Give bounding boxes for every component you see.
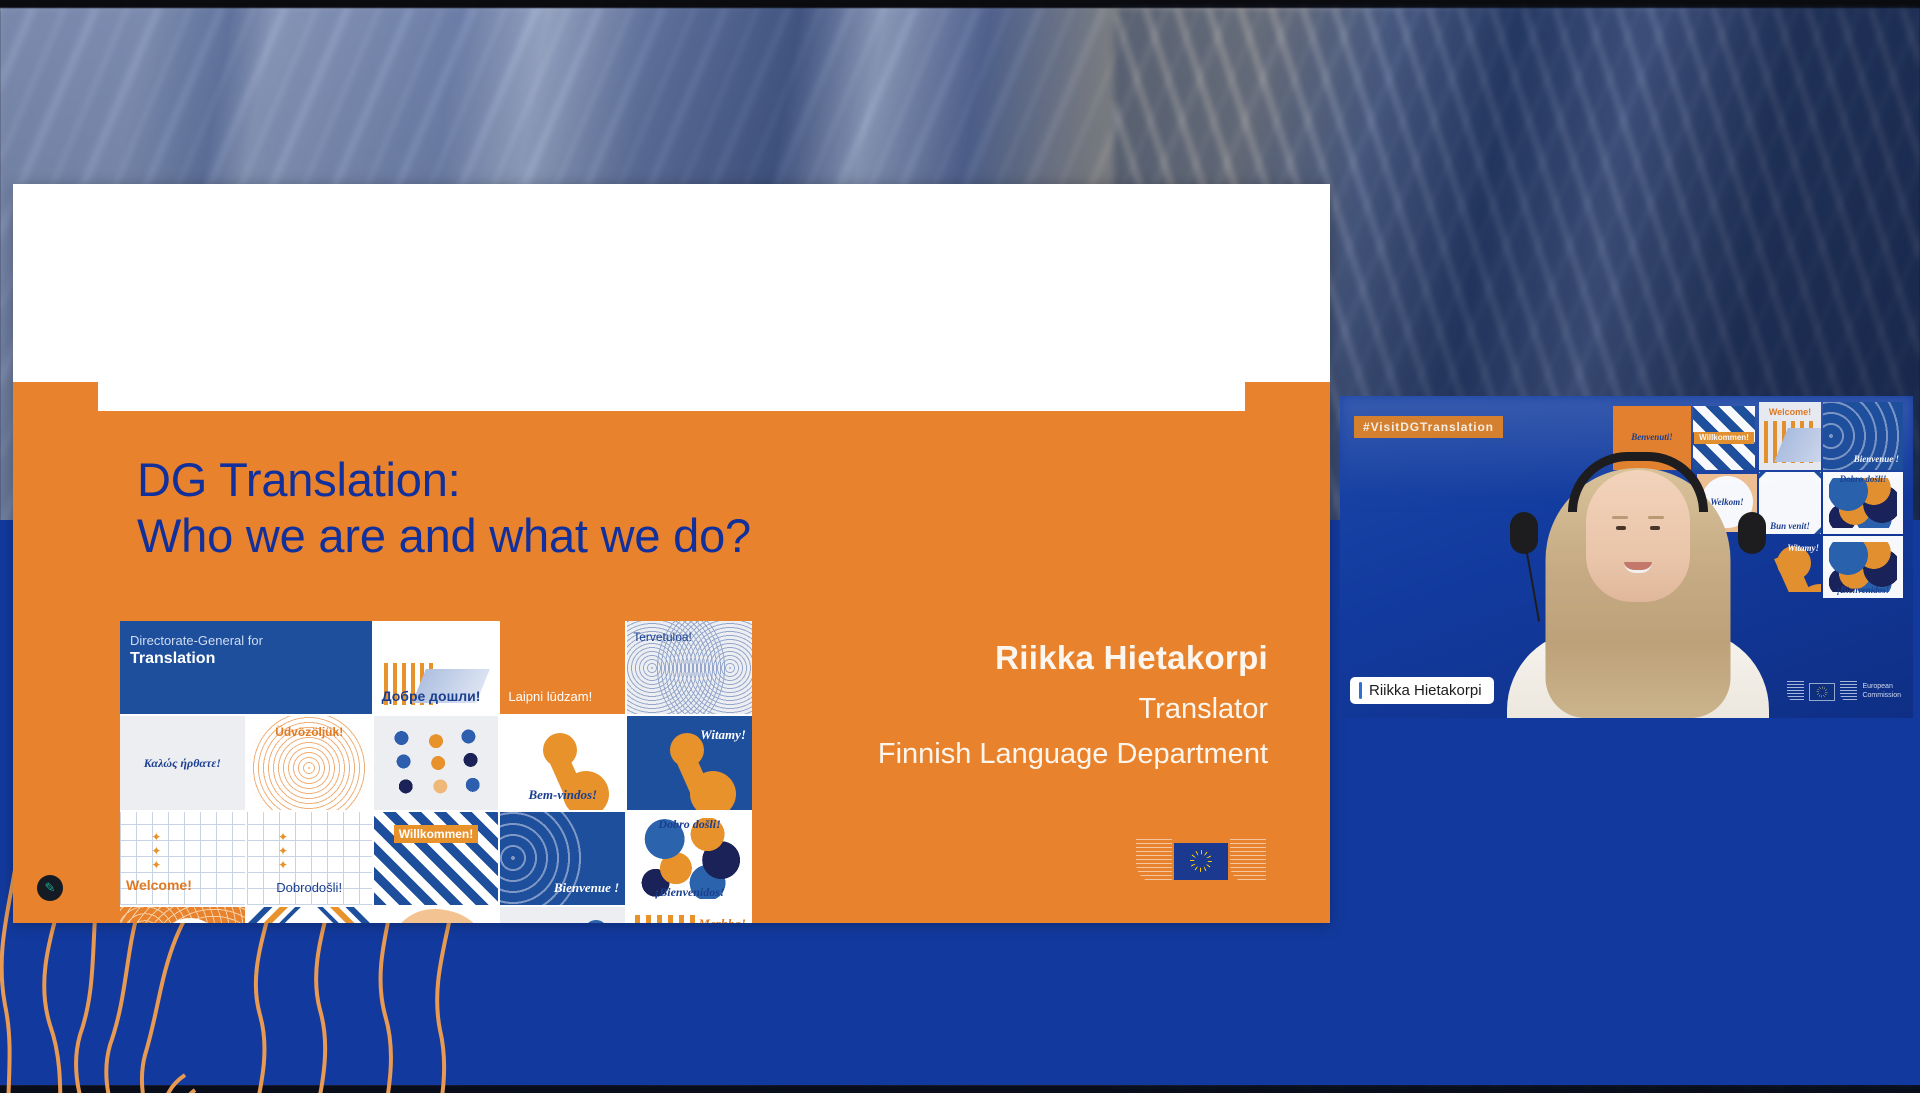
headphone-cup-right-icon (1738, 512, 1766, 554)
speaker-role: Translator (708, 693, 1268, 726)
tile-text: Welcome! (1769, 408, 1811, 417)
tile-text: Laipni lūdzam! (506, 688, 594, 706)
tile-text: Willkommen! (394, 825, 479, 843)
ec-wing-left-icon (1136, 839, 1172, 883)
tile-text: Merhba! (696, 915, 748, 923)
screen-root: DG Translation: Who we are and what we d… (0, 0, 1920, 1093)
slide-speaker-block: Riikka Hietakorpi Translator Finnish Lan… (708, 639, 1268, 771)
tile-dgt-brand: Directorate-General for Translation (120, 621, 372, 714)
vbg-tile-hr: Dobro došli! (1823, 472, 1903, 534)
tile-text: Tervetuloa! (631, 629, 694, 646)
vbg-tile-fr: Bienvenue ! (1823, 402, 1903, 470)
tile-greeting-fr: Bienvenue ! (500, 812, 625, 905)
tile-text: Dobro došli! (656, 816, 722, 833)
tile-text: Bienvenue ! (552, 879, 621, 897)
participant-video-tile[interactable]: Benvenuti! Willkommen! Welcome! Bienvenu… (1340, 396, 1913, 718)
eye-right (1650, 526, 1660, 530)
tile-greeting-lv: Laipni lūdzam! (500, 621, 625, 714)
tile-greeting-nl: Welkom! (374, 907, 499, 923)
brand-line-1: Directorate-General for (130, 633, 263, 649)
video-european-commission-logo: European Commission (1787, 681, 1901, 702)
tile-text: Üdvözöljük! (273, 724, 345, 741)
speaker-department: Finnish Language Department (708, 738, 1268, 771)
eu-flag-icon (1174, 843, 1228, 880)
tile-greeting-hu: Üdvözöljük! (247, 716, 372, 809)
page-title: DG Translation: Who we are and what we d… (137, 452, 751, 564)
ec-logo-text: European Commission (1862, 683, 1901, 700)
presentation-slide[interactable]: DG Translation: Who we are and what we d… (13, 184, 1330, 923)
microphone-boom-icon (1526, 552, 1540, 621)
eyebrow-right (1648, 516, 1664, 519)
ec-wing-left-icon (1787, 681, 1804, 702)
participant-avatar (1498, 428, 1778, 718)
tile-greeting-sl: Dobrodošli! (247, 812, 372, 905)
brand-line-2: Translation (130, 649, 263, 670)
ec-wing-right-icon (1230, 839, 1266, 883)
tile-greeting-pt: Bem-vindos! (500, 716, 625, 809)
slide-european-commission-logo (1136, 839, 1266, 883)
mouth (1624, 562, 1652, 573)
ec-logo-line-2: Commission (1862, 692, 1901, 700)
tile-greeting-hr: Dobro došli! ¡Bienvenidos! (627, 812, 752, 905)
tile-text: ¡Bienvenidos! (1837, 586, 1890, 595)
language-greetings-mosaic: Directorate-General for Translation Добр… (120, 621, 752, 923)
tile-greeting-sk: Vitajte! (500, 907, 625, 923)
tile-greeting-el: Καλώς ήρθατε! (120, 716, 245, 809)
tile-greeting-it: Benvenuti! (120, 907, 245, 923)
tile-text: ¡Bienvenidos! (653, 884, 727, 901)
tile-greeting-ro: Bun venit! (247, 907, 372, 923)
participant-name-label: Riikka Hietakorpi (1350, 677, 1494, 704)
tile-text: Καλώς ήρθατε! (142, 755, 223, 772)
tile-text: Witamy! (1787, 544, 1819, 553)
tile-decor-dots (374, 716, 499, 809)
tile-greeting-en: Welcome! (120, 812, 245, 905)
tile-text: Bem-vindos! (526, 786, 599, 804)
ec-logo-line-1: European (1862, 683, 1901, 691)
eyebrow-left (1612, 516, 1628, 519)
ec-wing-right-icon (1840, 681, 1857, 702)
eu-flag-icon (1809, 683, 1835, 701)
participant-name-text: Riikka Hietakorpi (1369, 682, 1482, 699)
hashtag-badge: #VisitDGTranslation (1354, 416, 1503, 438)
tile-text: Добре дошли! (380, 687, 483, 706)
vbg-tile-es: ¡Bienvenidos! (1823, 536, 1903, 598)
tile-text: Dobro došli! (1840, 475, 1887, 484)
tile-greeting-de: Willkommen! (374, 812, 499, 905)
tile-greeting-bg: Добре дошли! (374, 621, 499, 714)
eye-left (1616, 526, 1626, 530)
tile-text: Dobrodošli! (274, 879, 344, 897)
edit-pencil-icon[interactable]: ✎ (37, 875, 63, 901)
headphone-cup-left-icon (1510, 512, 1538, 554)
tile-text: Welcome! (124, 876, 194, 895)
tile-text: Bienvenue ! (1854, 455, 1899, 464)
speaking-indicator-bar (1359, 682, 1362, 699)
tile-greeting-mt: Merhba! Välkommen ! (627, 907, 752, 923)
headphones-band-icon (1568, 452, 1708, 512)
speaker-name: Riikka Hietakorpi (708, 639, 1268, 677)
slide-white-header (98, 184, 1245, 411)
